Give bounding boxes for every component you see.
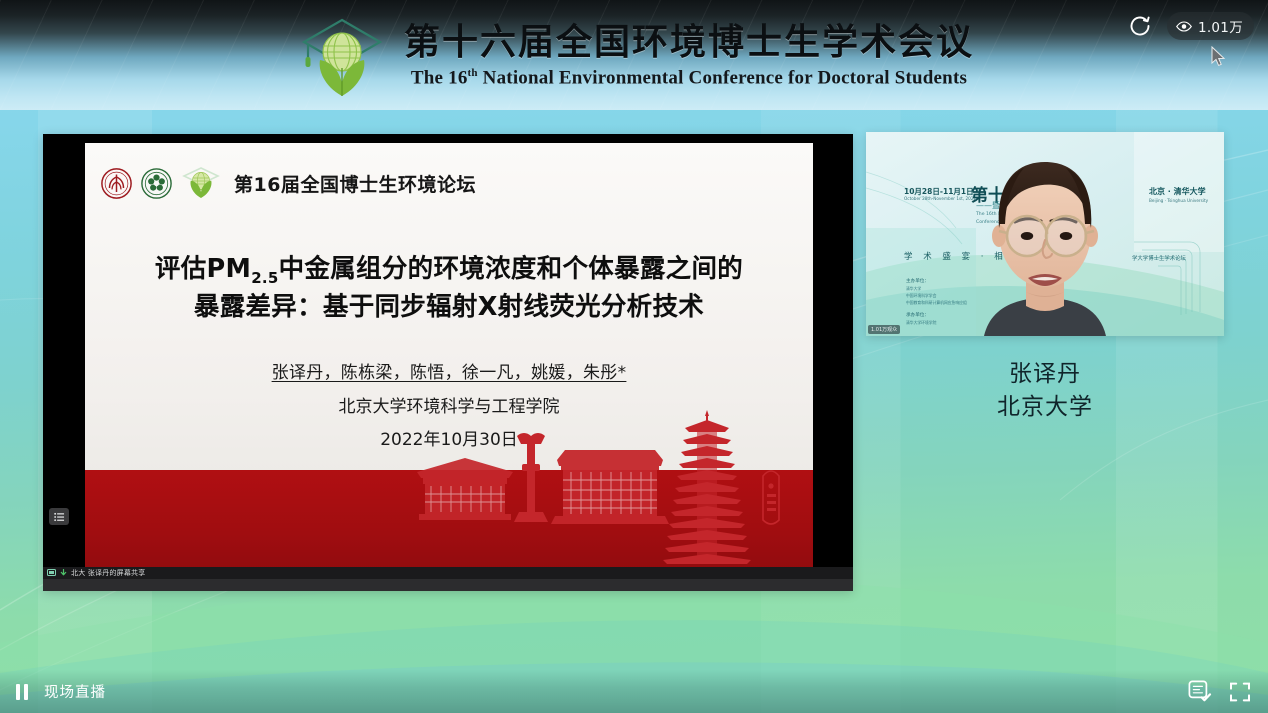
slide-authors: 张译丹，陈栋梁，陈悟，徐一凡，姚媛，朱彤* xyxy=(85,358,813,383)
eye-icon xyxy=(1176,21,1192,32)
banner-title-en: The 16th National Environmental Conferen… xyxy=(411,67,967,89)
player-right-controls xyxy=(1187,679,1252,704)
monitor-icon xyxy=(47,569,56,577)
peking-university-seal-logo xyxy=(101,168,132,199)
slide-title: 评估PM2.5中金属组分的环境浓度和个体暴露之间的 暴露差异：基于同步辐射X射线… xyxy=(95,251,803,326)
conference-banner: 第十六届全国环境博士生学术会议 The 16th National Enviro… xyxy=(0,0,1268,110)
slide-authors-text: 张译丹，陈栋梁，陈悟，徐一凡，姚媛，朱彤* xyxy=(272,363,627,383)
environment-society-logo xyxy=(141,168,172,199)
refresh-icon[interactable] xyxy=(1127,13,1153,39)
mouse-cursor xyxy=(1211,46,1227,68)
player-control-bar: 现场直播 xyxy=(0,670,1268,713)
slide-header: 第16届全国博士生环境论坛 xyxy=(101,159,797,207)
slide-title-part2: 中金属组分的环境浓度和个体暴露之间的 xyxy=(279,254,743,284)
fullscreen-icon[interactable] xyxy=(1228,680,1252,704)
danmaku-toggle-icon[interactable] xyxy=(1187,679,1212,704)
banner-title-cn: 第十六届全国环境博士生学术会议 xyxy=(404,23,974,63)
banner-title-en-sup: th xyxy=(468,67,478,79)
viewer-count-text: 1.01万 xyxy=(1198,16,1243,36)
graduation-cap-globe-logo xyxy=(181,166,221,200)
presenter-video-tile[interactable]: 10月28日-11月1日 October 28th-November 1st, … xyxy=(866,132,1224,336)
presenter-institution-text: 北京大学 xyxy=(997,394,1093,420)
list-menu-icon[interactable] xyxy=(49,508,69,525)
presentation-slide: 第16届全国博士生环境论坛 评估PM2.5中金属组分的环境浓度和个体暴露之间的 … xyxy=(85,143,813,576)
pause-icon[interactable] xyxy=(14,682,30,702)
player-left-controls: 现场直播 xyxy=(14,681,106,702)
top-right-controls: 1.01万 xyxy=(1127,12,1254,40)
download-arrow-icon xyxy=(60,569,67,577)
slide-title-subscript: 2.5 xyxy=(251,269,278,287)
presenter-corner-badge: 1.01万观众 xyxy=(868,325,900,334)
presenter-name-block: 张译丹 北京大学 xyxy=(866,358,1224,423)
banner-title-en-post: National Environmental Conference for Do… xyxy=(478,67,967,88)
screen-share-panel[interactable]: 第16届全国博士生环境论坛 评估PM2.5中金属组分的环境浓度和个体暴露之间的 … xyxy=(43,134,853,591)
screen-share-status-bar: 北大 张译丹的屏幕共享 xyxy=(43,567,853,579)
slide-date: 2022年10月30日 xyxy=(85,425,813,450)
slide-title-line2: 暴露差异：基于同步辐射X射线荧光分析技术 xyxy=(194,292,704,322)
presenter-name-text: 张译丹 xyxy=(1009,361,1081,387)
viewer-count-badge: 1.01万 xyxy=(1167,12,1254,40)
banner-title-en-pre: The 16 xyxy=(411,67,468,88)
slide-title-part1: 评估PM xyxy=(155,254,251,284)
screen-share-label: 北大 张译丹的屏幕共享 xyxy=(71,568,145,578)
screen-share-letterbox: 第16届全国博士生环境论坛 评估PM2.5中金属组分的环境浓度和个体暴露之间的 … xyxy=(43,134,853,579)
graduation-cap-globe-logo xyxy=(294,12,390,100)
slide-header-title: 第16届全国博士生环境论坛 xyxy=(234,170,476,197)
presenter-person xyxy=(866,132,1224,336)
slide-affiliation: 北京大学环境科学与工程学院 xyxy=(85,392,813,417)
live-status-label: 现场直播 xyxy=(44,681,106,702)
